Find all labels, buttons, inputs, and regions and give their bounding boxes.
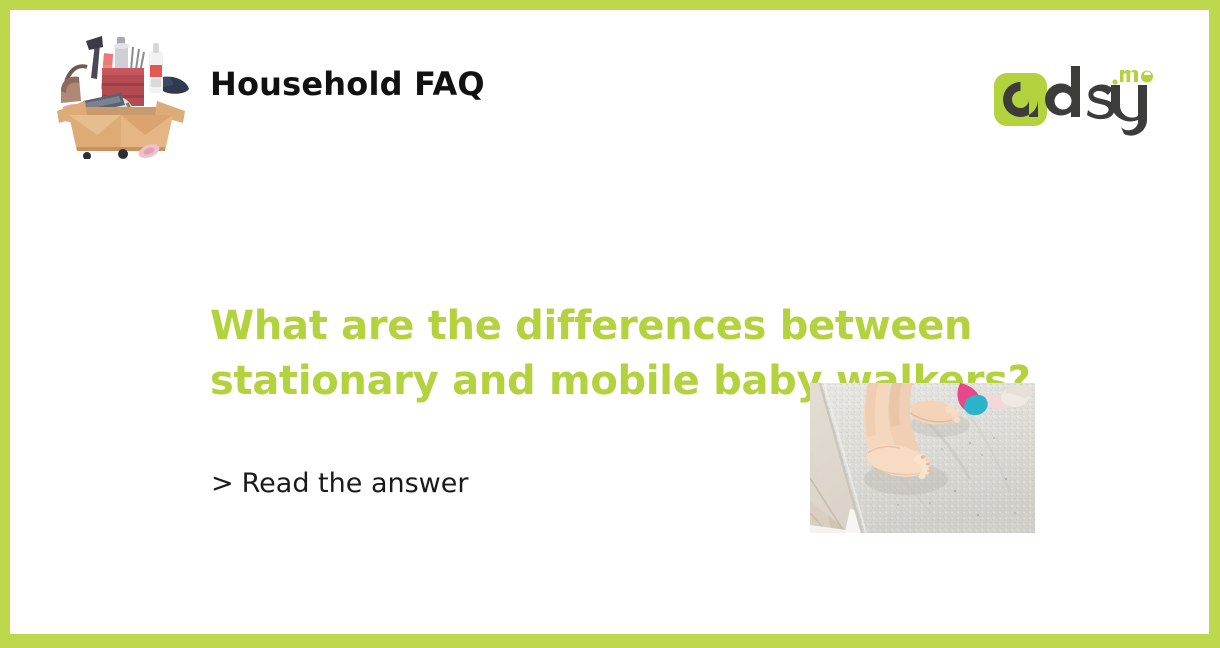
logo-letter-d: [1045, 66, 1080, 117]
adsy-logo[interactable]: [994, 58, 1159, 148]
logo-tld-e: [1141, 71, 1153, 83]
chevron-right-icon: >: [211, 468, 234, 499]
read-answer-label: Read the answer: [242, 468, 469, 499]
page-title: Household FAQ: [210, 65, 485, 103]
logo-letter-s: [1087, 85, 1115, 120]
article-thumbnail: [810, 383, 1035, 533]
logo-tld-dot: [1112, 79, 1117, 84]
logo-badge: [994, 73, 1047, 126]
card-header: Household FAQ: [10, 10, 1209, 160]
household-box-icon: [45, 23, 197, 159]
card-inner: Household FAQ: [10, 10, 1209, 634]
logo-tld-m: [1120, 70, 1138, 82]
read-the-answer-link[interactable]: >Read the answer: [211, 468, 468, 499]
logo-letter-y: [1111, 85, 1147, 136]
faq-promo-card: Household FAQ: [0, 0, 1220, 648]
